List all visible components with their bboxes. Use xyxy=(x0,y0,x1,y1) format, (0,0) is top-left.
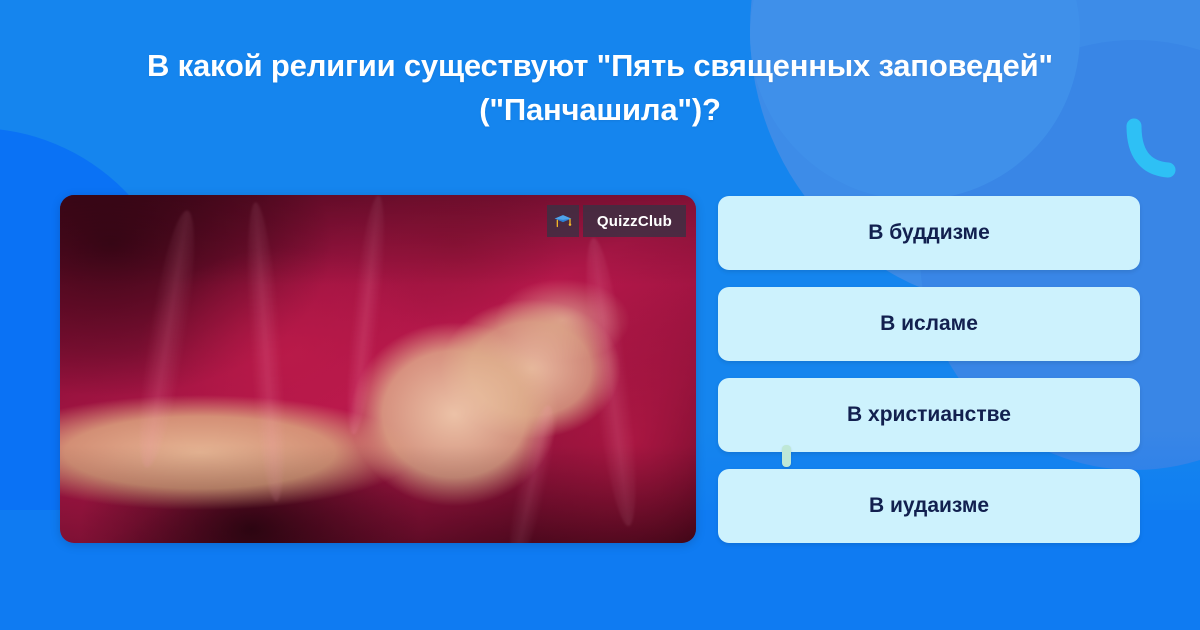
quiz-question-card: В какой религии существуют "Пять священн… xyxy=(0,0,1200,630)
answer-option-4[interactable]: В иудаизме xyxy=(718,469,1140,543)
watermark-brand-label: QuizzClub xyxy=(583,205,686,237)
answer-option-4-label: В иудаизме xyxy=(869,494,989,518)
graduation-cap-icon xyxy=(547,205,579,237)
question-image: QuizzClub xyxy=(60,195,696,543)
answer-option-1[interactable]: В буддизме xyxy=(718,196,1140,270)
answer-option-2[interactable]: В исламе xyxy=(718,287,1140,361)
question-image-vignette xyxy=(60,195,696,543)
answer-option-2-label: В исламе xyxy=(880,312,978,336)
answer-options-list: В буддизме В исламе В христианстве В иуд… xyxy=(718,196,1140,543)
answer-option-1-label: В буддизме xyxy=(868,221,990,245)
answer-option-3-marker xyxy=(782,445,791,467)
answer-option-3-label: В христианстве xyxy=(847,403,1011,427)
question-title: В какой религии существуют "Пять священн… xyxy=(60,44,1140,132)
watermark: QuizzClub xyxy=(547,205,686,237)
answer-option-3[interactable]: В христианстве xyxy=(718,378,1140,452)
